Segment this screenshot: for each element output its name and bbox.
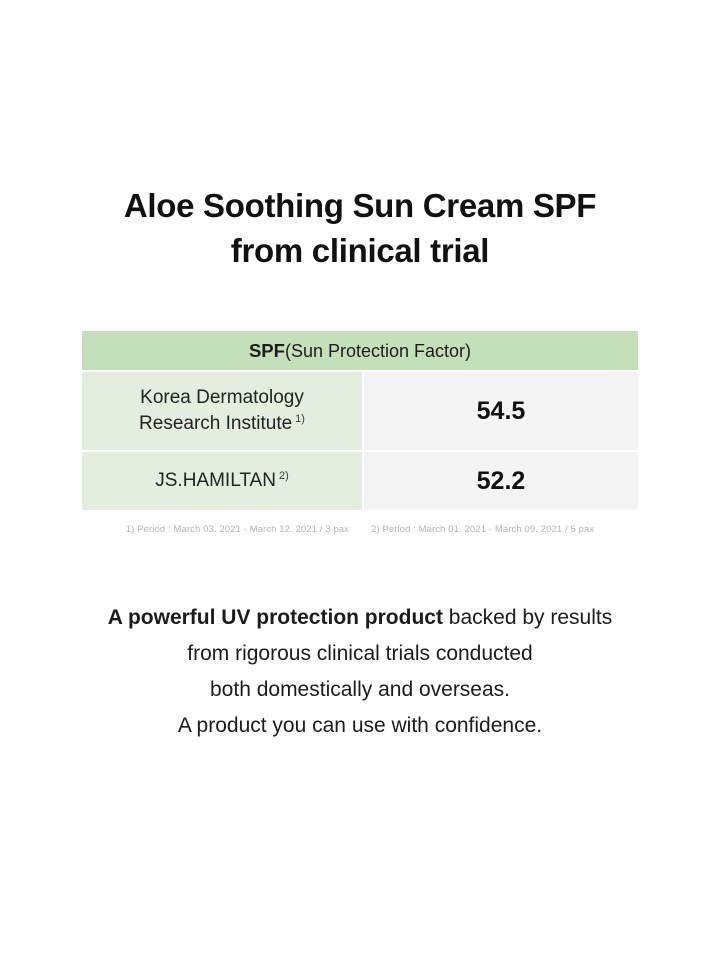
footnote-marker: 2): [279, 470, 289, 482]
spf-table-header: SPF(Sun Protection Factor): [82, 331, 638, 370]
footnote-list: 1) Period : March 03. 2021 - March 12. 2…: [0, 524, 720, 535]
table-cell-institution: JS.HAMILTAN2): [82, 452, 362, 510]
table-cell-institution: Korea Dermatology Research Institute1): [82, 372, 362, 450]
institution-name-line-2: Research Institute: [139, 413, 292, 434]
summary-line-3: both domestically and overseas.: [0, 672, 720, 708]
page-title-line-2: from clinical trial: [0, 228, 720, 273]
institution-name-line-1: JS.HAMILTAN: [155, 470, 276, 491]
summary-line-1-rest: backed by results: [443, 606, 612, 629]
spf-results-table: SPF(Sun Protection Factor) Korea Dermato…: [82, 331, 638, 510]
product-info-page: Aloe Soothing Sun Cream SPF from clinica…: [0, 0, 720, 960]
summary-line-1: A powerful UV protection product backed …: [0, 600, 720, 636]
institution-name-line-1: Korea Dermatology: [140, 387, 304, 408]
summary-bold-lead: A powerful UV protection product: [108, 606, 443, 629]
page-title-line-1: Aloe Soothing Sun Cream SPF: [0, 183, 720, 228]
table-row: JS.HAMILTAN2) 52.2: [82, 452, 638, 510]
page-title: Aloe Soothing Sun Cream SPF from clinica…: [0, 183, 720, 273]
summary-line-4: A product you can use with confidence.: [0, 708, 720, 744]
spf-header-bold: SPF: [249, 340, 285, 361]
table-cell-spf-value: 54.5: [364, 372, 638, 450]
spf-header-regular: (Sun Protection Factor): [285, 341, 471, 361]
summary-paragraph: A powerful UV protection product backed …: [0, 600, 720, 744]
table-cell-spf-value: 52.2: [364, 452, 638, 510]
footnote-1: 1) Period : March 03. 2021 - March 12. 2…: [126, 524, 349, 535]
table-row: Korea Dermatology Research Institute1) 5…: [82, 372, 638, 450]
footnote-2: 2) Period : March 01. 2021 - March 09. 2…: [371, 524, 594, 535]
summary-line-2: from rigorous clinical trials conducted: [0, 636, 720, 672]
footnote-marker: 1): [295, 413, 305, 425]
